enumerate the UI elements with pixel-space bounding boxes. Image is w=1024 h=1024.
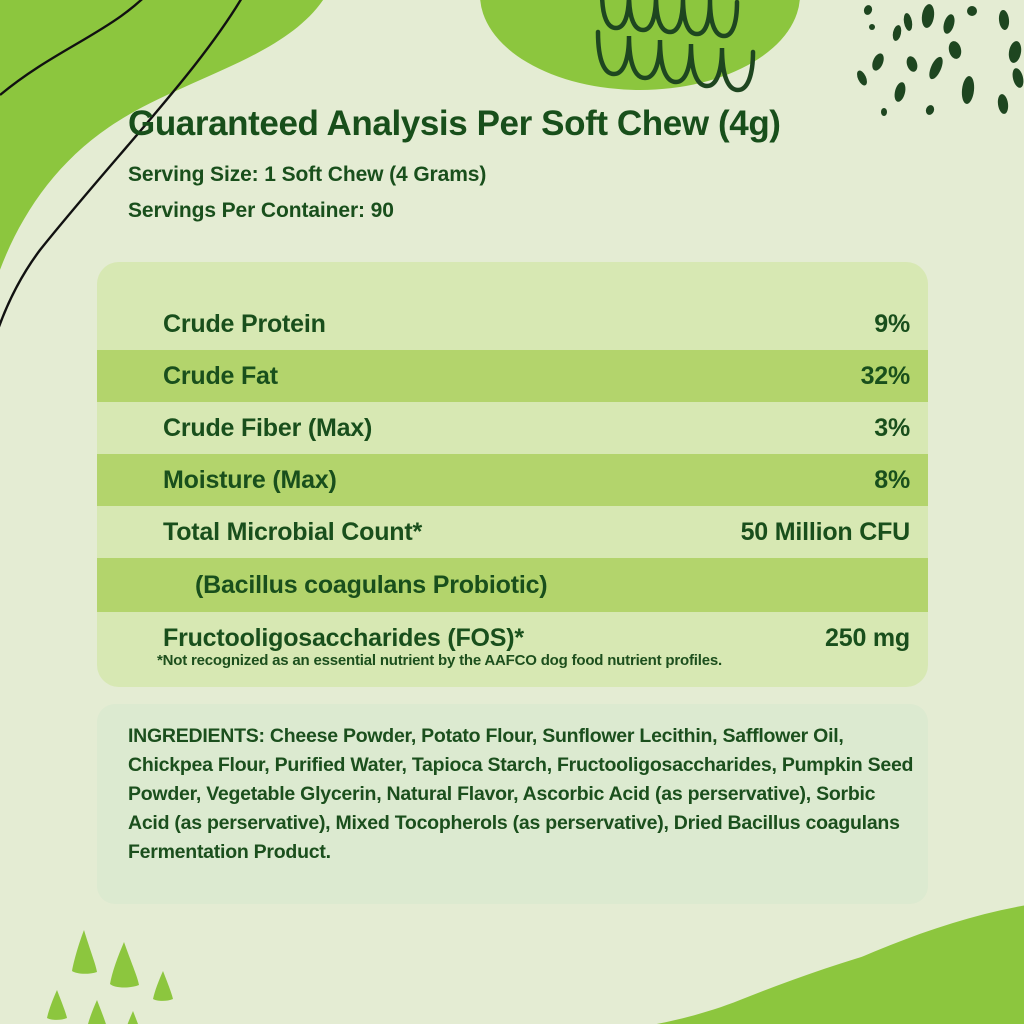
analysis-row-label: Moisture (Max) (163, 466, 337, 495)
analysis-row: Crude Fat32% (97, 350, 928, 402)
analysis-row-value: 9% (874, 310, 910, 339)
analysis-row-value: 50 Million CFU (741, 518, 910, 547)
analysis-row-value: 8% (874, 466, 910, 495)
analysis-row: Crude Protein9% (97, 298, 928, 350)
analysis-row-label: Crude Fiber (Max) (163, 414, 372, 443)
analysis-row-value: 3% (874, 414, 910, 443)
guaranteed-analysis-card: Crude Protein9%Crude Fat32%Crude Fiber (… (97, 262, 928, 687)
analysis-row-label: Crude Protein (163, 310, 326, 339)
page-title: Guaranteed Analysis Per Soft Chew (4g) (128, 104, 781, 144)
analysis-row-label: Crude Fat (163, 362, 278, 391)
ingredients-text: INGREDIENTS: Cheese Powder, Potato Flour… (128, 722, 918, 867)
analysis-row: Total Microbial Count*50 Million CFU (97, 506, 928, 558)
nutrition-label-page: Guaranteed Analysis Per Soft Chew (4g) S… (0, 0, 1024, 1024)
serving-size-text: Serving Size: 1 Soft Chew (4 Grams) (128, 163, 486, 187)
analysis-row: Crude Fiber (Max)3% (97, 402, 928, 454)
analysis-row: (Bacillus coagulans Probiotic) (97, 558, 928, 612)
analysis-row: Moisture (Max)8% (97, 454, 928, 506)
servings-per-container-text: Servings Per Container: 90 (128, 199, 394, 223)
analysis-row-label: Total Microbial Count* (163, 518, 422, 547)
analysis-row-value: 32% (861, 362, 910, 391)
analysis-row-label: Fructooligosaccharides (FOS)* (163, 624, 524, 653)
analysis-row-label: (Bacillus coagulans Probiotic) (195, 571, 547, 600)
analysis-row-list: Crude Protein9%Crude Fat32%Crude Fiber (… (97, 298, 928, 664)
analysis-row-value: 250 mg (825, 624, 910, 653)
analysis-footnote: *Not recognized as an essential nutrient… (157, 652, 722, 669)
label-content: Guaranteed Analysis Per Soft Chew (4g) S… (0, 0, 1024, 1024)
